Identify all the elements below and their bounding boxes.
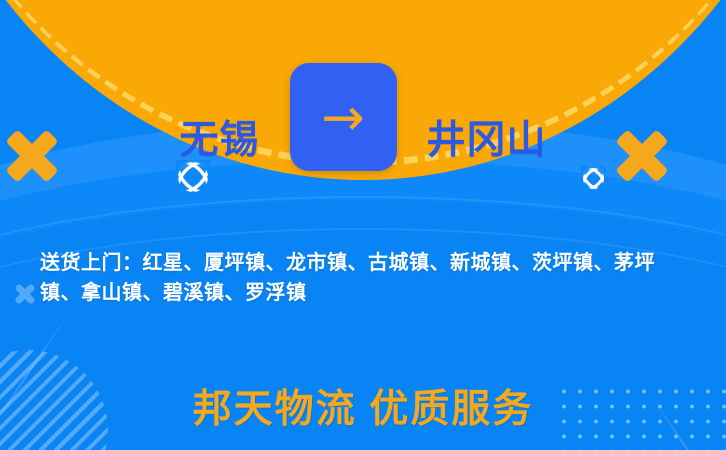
route-row: 无锡 → 井冈山 bbox=[0, 62, 726, 172]
origin-city-label: 无锡 bbox=[179, 121, 259, 160]
logistics-route-banner: 无锡 → 井冈山 送货上门：红星、厦坪镇、龙市镇、古城镇、新城镇、茨坪镇、茅坪镇… bbox=[0, 0, 726, 450]
route-arrow-box: → bbox=[290, 63, 397, 171]
destination-city-label: 井冈山 bbox=[427, 121, 547, 160]
arrow-right-icon: → bbox=[321, 92, 365, 144]
delivery-towns-text: 送货上门：红星、厦坪镇、龙市镇、古城镇、新城镇、茨坪镇、茅坪镇、拿山镇、碧溪镇、… bbox=[40, 248, 690, 308]
company-slogan: 邦天物流 优质服务 bbox=[0, 390, 726, 429]
